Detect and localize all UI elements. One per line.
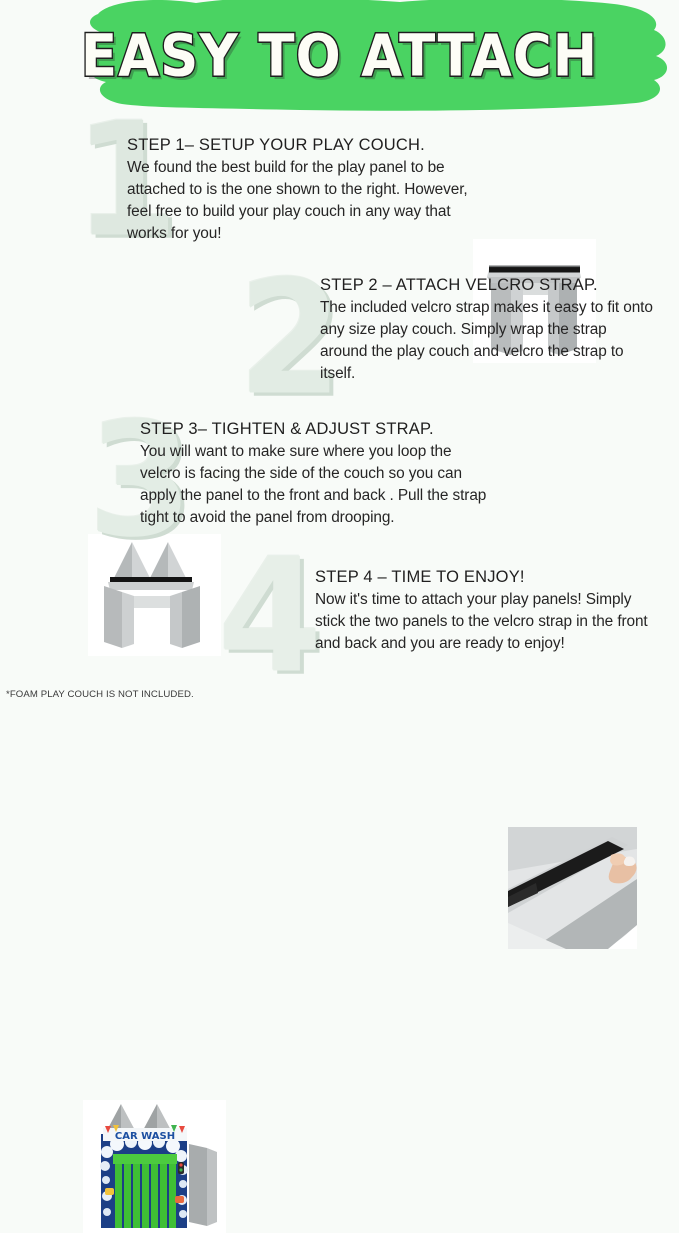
step-heading-2: STEP 2 – ATTACH VELCRO STRAP.: [320, 276, 658, 295]
step-number-watermark-4: 4: [218, 545, 322, 690]
step-body-2: The included velcro strap makes it easy …: [320, 297, 658, 385]
step-heading-1: STEP 1– SETUP YOUR PLAY COUCH.: [127, 136, 479, 155]
step-heading-3: STEP 3– TIGHTEN & ADJUST STRAP.: [140, 420, 492, 439]
step-body-1: We found the best build for the play pan…: [127, 157, 479, 245]
step-row-3: 3 STEP 3– TIGHTEN & ADJUST STRAP. You wi…: [0, 410, 679, 550]
step-text-2: STEP 2 – ATTACH VELCRO STRAP. The includ…: [320, 276, 658, 385]
step-row-4: 4: [0, 548, 679, 683]
disclaimer-text: *FOAM PLAY COUCH IS NOT INCLUDED.: [6, 689, 194, 700]
car-wash-play-panel-photo: CAR WASH: [83, 1100, 226, 1233]
step-text-3: STEP 3– TIGHTEN & ADJUST STRAP. You will…: [140, 420, 492, 529]
step-text-4: STEP 4 – TIME TO ENJOY! Now it's time to…: [315, 568, 663, 655]
step-row-1: 1 STEP 1– SETUP YOUR PLAY COUCH. We foun…: [0, 118, 679, 266]
step-text-1: STEP 1– SETUP YOUR PLAY COUCH. We found …: [127, 136, 479, 245]
step-heading-4: STEP 4 – TIME TO ENJOY!: [315, 568, 663, 587]
step-body-3: You will want to make sure where you loo…: [140, 441, 492, 529]
hand-tightening-velcro-strap-photo: [508, 827, 637, 949]
page-title: EASY TO ATTACH: [0, 22, 679, 89]
car-wash-sign-text: CAR WASH: [115, 1131, 175, 1142]
step-body-4: Now it's time to attach your play panels…: [315, 589, 663, 655]
